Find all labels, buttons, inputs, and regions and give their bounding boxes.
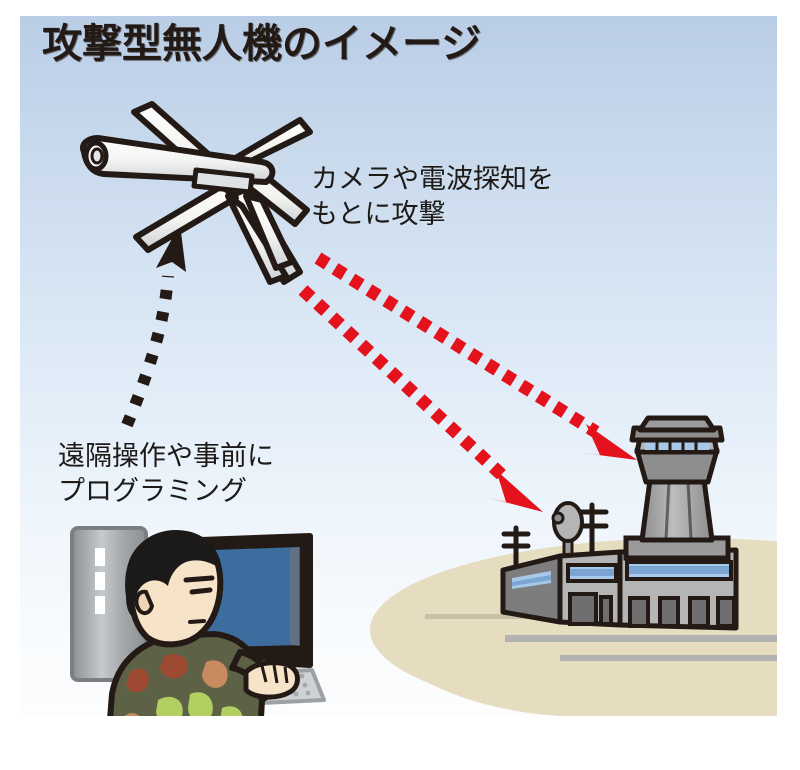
page-title: 攻撃型無人機のイメージ — [42, 22, 481, 66]
operator-scene — [72, 528, 324, 770]
control-link-arrow — [127, 224, 186, 425]
attack-arrow-upper — [318, 258, 637, 460]
infographic-root: 攻撃型無人機のイメージ カメラや電波探知を もとに攻撃 遠隔操作や事前に プログ… — [0, 0, 800, 770]
terminal-building-left — [503, 556, 560, 622]
drone-illustration — [83, 104, 310, 282]
operator-body — [106, 634, 276, 770]
operator-hand — [246, 663, 298, 697]
callout-attack-method: カメラや電波探知を もとに攻撃 — [311, 163, 554, 232]
callout-control-method: 遠隔操作や事前に プログラミング — [58, 440, 274, 509]
control-tower — [626, 418, 728, 558]
operator-head — [125, 530, 222, 644]
runway-line-long-2 — [560, 655, 778, 661]
pc-tower-drive-slots — [95, 548, 105, 614]
illustration-canvas — [0, 0, 800, 770]
terminal-building-right — [620, 550, 736, 628]
runway-line-long-1 — [505, 635, 777, 642]
drone-nose-sensor-icon — [86, 143, 106, 169]
terminal-building-centre — [560, 552, 620, 625]
